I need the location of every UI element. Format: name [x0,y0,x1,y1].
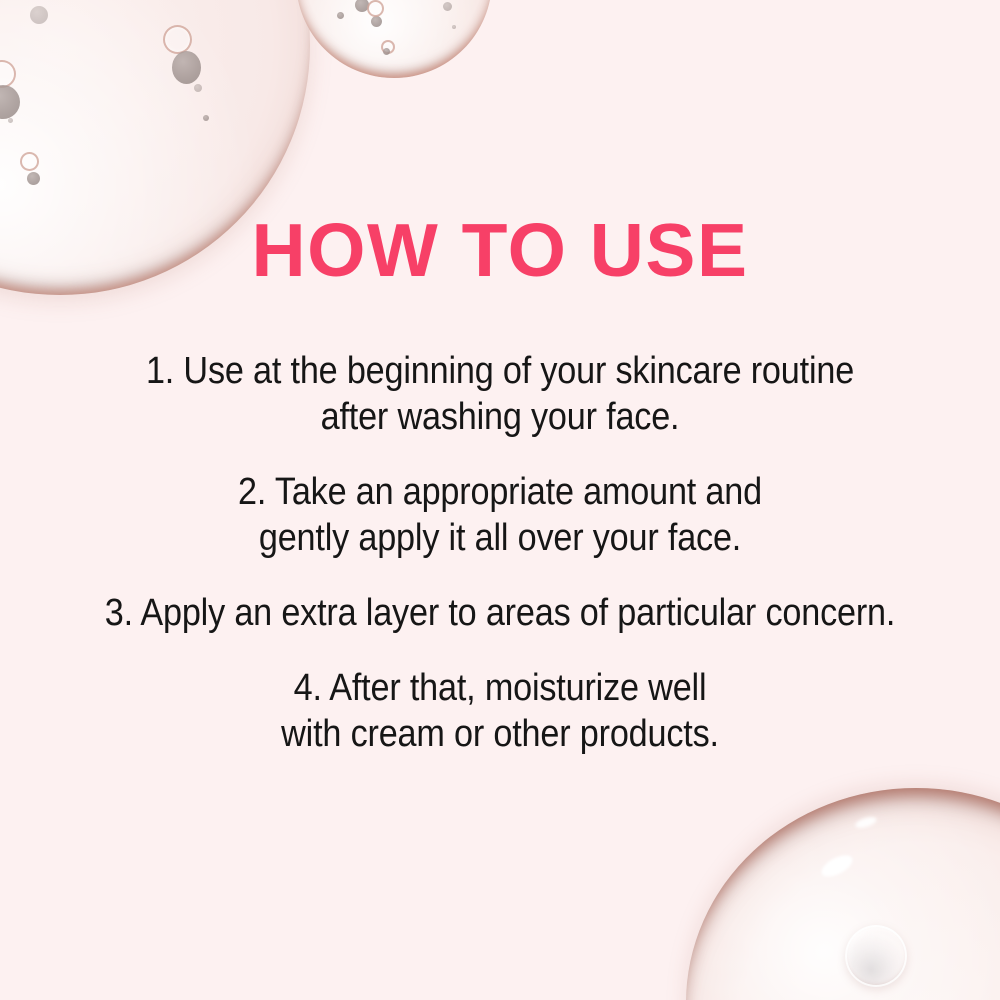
serum-bubble-ring-icon [0,60,16,88]
serum-bubble-ring-icon [20,152,39,171]
serum-bubble-dot-icon [355,0,369,12]
serum-bubble-ring-icon [163,25,192,54]
step-item-2: 2. Take an appropriate amount and gently… [50,469,950,561]
step-item-1: 1. Use at the beginning of your skincare… [50,348,950,440]
page-title: HOW TO USE [0,213,1000,288]
how-to-use-steps-list: 1. Use at the beginning of your skincare… [0,348,1000,757]
serum-bubble-dot-icon [30,6,48,24]
serum-bubble-dot-icon [383,48,390,55]
serum-bubble-dot-icon [27,172,40,185]
step-item-4: 4. After that, moisturize well with crea… [50,665,950,757]
serum-bubble-dot-icon [452,25,456,29]
serum-bubble-clear-icon [845,925,907,987]
serum-bubble-dot-icon [0,85,20,119]
serum-droplet-bottom-icon [686,788,1000,1000]
serum-bubble-dot-icon [337,12,344,19]
how-to-use-poster: HOW TO USE 1. Use at the beginning of yo… [0,0,1000,1000]
droplet-highlight-icon [854,815,878,830]
serum-bubble-dot-icon [8,118,13,123]
serum-droplet-top-icon [296,0,492,78]
serum-bubble-dot-icon [194,84,202,92]
serum-bubble-ring-icon [367,0,384,17]
droplet-highlight-icon [818,851,856,881]
serum-bubble-dot-icon [371,16,382,27]
serum-bubble-ring-icon [381,40,395,54]
serum-bubble-dot-icon [443,2,452,11]
serum-bubble-dot-icon [203,115,209,121]
serum-bubble-dot-icon [172,51,201,84]
step-item-3: 3. Apply an extra layer to areas of part… [50,590,950,636]
